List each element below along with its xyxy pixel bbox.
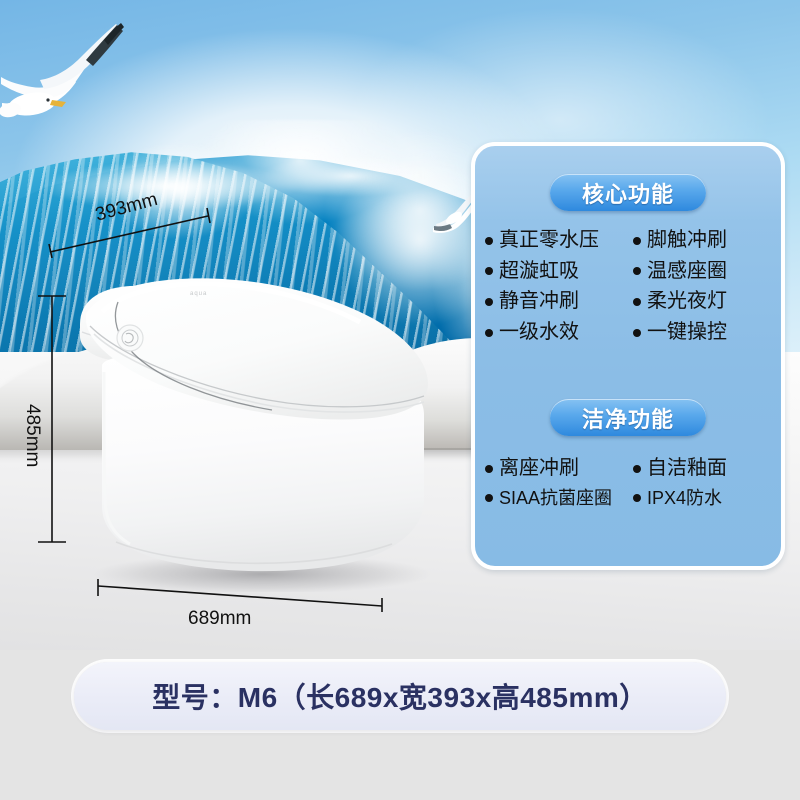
feature-label: 静音冲刷 bbox=[499, 291, 579, 313]
smart-toilet-product: aqua bbox=[72, 262, 442, 592]
feature-label: 离座冲刷 bbox=[499, 458, 579, 480]
height-dimension-label: 485mm bbox=[21, 404, 43, 467]
width-dimension-line bbox=[90, 578, 390, 612]
bullet-icon bbox=[633, 298, 641, 306]
seagull-large-icon bbox=[0, 14, 125, 134]
feature-item: SIAA抗菌座圈 bbox=[485, 489, 631, 508]
feature-panel: 核心功能 真正零水压 脚触冲刷 超漩虹吸 温感座圈 静音冲刷 bbox=[471, 142, 785, 570]
feature-item: 一键操控 bbox=[633, 322, 779, 344]
feature-list-clean: 离座冲刷 自洁釉面 SIAA抗菌座圈 IPX4防水 bbox=[485, 458, 779, 508]
feature-label: 温感座圈 bbox=[647, 261, 727, 283]
bullet-icon bbox=[485, 329, 493, 337]
feature-item: 静音冲刷 bbox=[485, 291, 631, 313]
feature-label: 自洁釉面 bbox=[647, 458, 727, 480]
product-spec-image: aqua 393mm 485mm 689mm 核心功能 bbox=[0, 0, 800, 800]
width-dimension-label: 689mm bbox=[188, 608, 251, 630]
bullet-icon bbox=[633, 329, 641, 337]
feature-item: 真正零水压 bbox=[485, 230, 631, 252]
bullet-icon bbox=[633, 237, 641, 245]
svg-text:aqua: aqua bbox=[190, 291, 207, 297]
bullet-icon bbox=[485, 237, 493, 245]
feature-item: 超漩虹吸 bbox=[485, 261, 631, 283]
bullet-icon bbox=[633, 465, 641, 473]
feature-item: 脚触冲刷 bbox=[633, 230, 779, 252]
feature-label: IPX4防水 bbox=[647, 489, 722, 508]
bullet-icon bbox=[485, 267, 493, 275]
bullet-icon bbox=[485, 465, 493, 473]
sensor-button bbox=[117, 325, 143, 351]
feature-label: 一键操控 bbox=[647, 322, 727, 344]
section-title-clean: 洁净功能 bbox=[550, 399, 706, 436]
bullet-icon bbox=[633, 267, 641, 275]
feature-item: 一级水效 bbox=[485, 322, 631, 344]
bullet-icon bbox=[633, 494, 641, 502]
feature-label: SIAA抗菌座圈 bbox=[499, 489, 612, 508]
bullet-icon bbox=[485, 494, 493, 502]
feature-label: 柔光夜灯 bbox=[647, 291, 727, 313]
feature-item: 离座冲刷 bbox=[485, 458, 631, 480]
feature-item: IPX4防水 bbox=[633, 489, 779, 508]
section-title-clean-label: 洁净功能 bbox=[582, 402, 674, 434]
model-info-text: 型号：M6（长689x宽393x高485mm） bbox=[152, 676, 648, 716]
feature-label: 超漩虹吸 bbox=[499, 261, 579, 283]
feature-label: 一级水效 bbox=[499, 322, 579, 344]
feature-list-core: 真正零水压 脚触冲刷 超漩虹吸 温感座圈 静音冲刷 柔光夜灯 bbox=[485, 230, 779, 343]
bullet-icon bbox=[485, 298, 493, 306]
section-title-core: 核心功能 bbox=[550, 174, 706, 211]
feature-item: 柔光夜灯 bbox=[633, 291, 779, 313]
feature-item: 自洁釉面 bbox=[633, 458, 779, 480]
feature-label: 脚触冲刷 bbox=[647, 230, 727, 252]
section-title-core-label: 核心功能 bbox=[582, 177, 674, 209]
model-info-bar: 型号：M6（长689x宽393x高485mm） bbox=[74, 662, 726, 730]
feature-label: 真正零水压 bbox=[499, 230, 599, 252]
feature-item: 温感座圈 bbox=[633, 261, 779, 283]
